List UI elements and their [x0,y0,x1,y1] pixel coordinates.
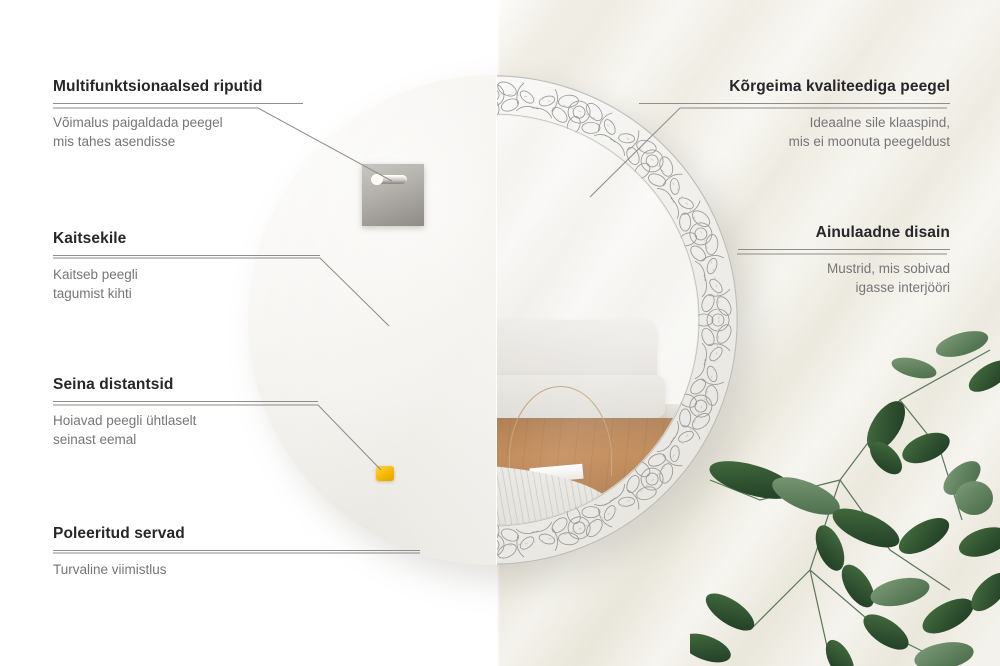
callout-rule [738,249,950,250]
callout-rule [639,103,950,104]
callout-body: Võimalus paigaldada peegel mis tahes ase… [53,113,303,151]
callout-body: Ideaalne sile klaaspind, mis ei moonuta … [639,113,950,151]
callout-poleeritud-servad: Poleeritud servad Turvaline viimistlus [53,525,420,579]
callout-title: Kõrgeima kvaliteediga peegel [639,78,950,96]
callout-title: Seina distantsid [53,376,318,394]
callout-rule [53,401,318,402]
callout-multifunktsionaalsed-riputid: Multifunktsionaalsed riputid Võimalus pa… [53,78,303,151]
callout-title: Ainulaadne disain [738,224,950,242]
callout-body: Mustrid, mis sobivad igasse interjööri [738,259,950,297]
callout-rule [53,103,303,104]
callout-body: Kaitseb peegli tagumist kihti [53,265,320,303]
keyhole-slot-icon [373,175,407,184]
callout-seina-distantsid: Seina distantsid Hoiavad peegli ühtlasel… [53,376,318,449]
callout-body: Hoiavad peegli ühtlaselt seinast eemal [53,411,318,449]
hanger-plate [362,164,424,226]
callout-kaitsekile: Kaitsekile Kaitseb peegli tagumist kihti [53,230,320,303]
callout-title: Multifunktsionaalsed riputid [53,78,303,96]
infographic-canvas: Multifunktsionaalsed riputid Võimalus pa… [0,0,1000,666]
spacer-chip [376,466,394,481]
callout-body: Turvaline viimistlus [53,560,420,579]
callout-rule [53,550,420,551]
callout-title: Kaitsekile [53,230,320,248]
callout-rule [53,255,320,256]
callout-ainulaadne-disain: Ainulaadne disain Mustrid, mis sobivad i… [738,224,950,297]
callout-title: Poleeritud servad [53,525,420,543]
callout-korgeima-kvaliteediga-peegel: Kõrgeima kvaliteediga peegel Ideaalne si… [639,78,950,151]
